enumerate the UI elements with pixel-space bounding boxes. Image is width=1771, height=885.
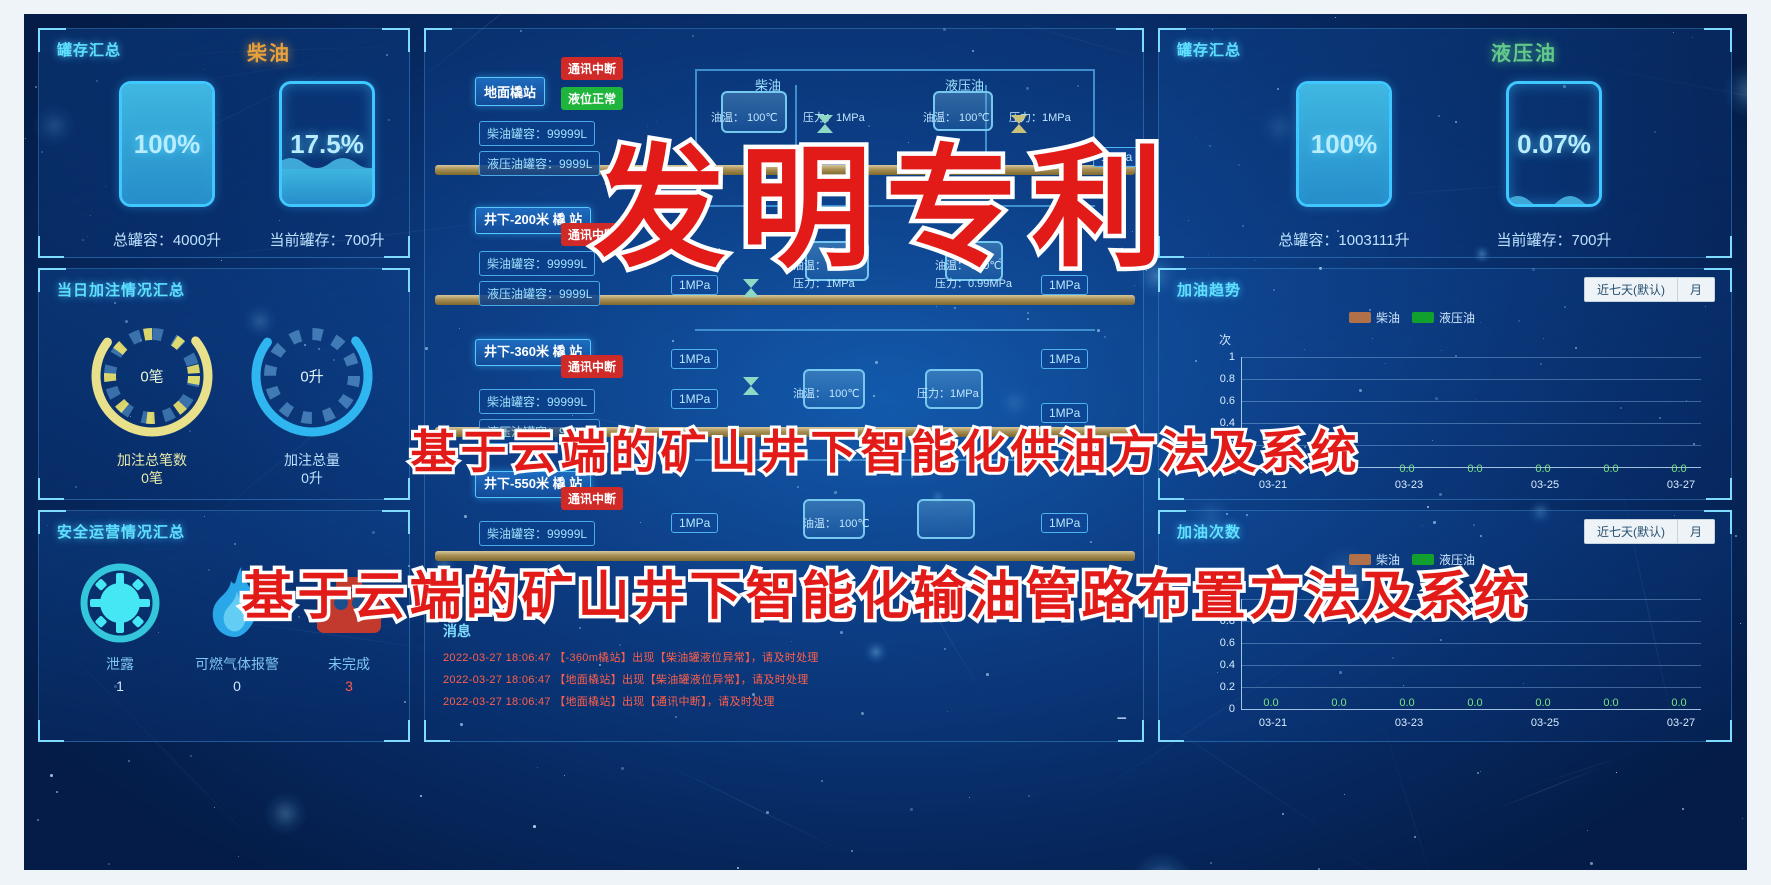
- screenshot-root: 罐存汇总 柴油 100% 总罐容：4000升 17.5% 当前罐存：700升: [0, 0, 1771, 885]
- panel-subtitle-hydraulic: 液压油: [1491, 37, 1557, 66]
- pressure-tag: 1MPa: [671, 513, 718, 533]
- tank-percent-label: 100%: [122, 84, 212, 204]
- gauge-caption-count: 加注总笔数 0笔: [67, 452, 237, 487]
- chart-point-label: 0.0: [1671, 463, 1686, 475]
- range-selector-count[interactable]: 近七天(默认) 月: [1584, 519, 1715, 544]
- safety-value-unfinished: 3: [299, 678, 399, 694]
- legend-label-hydraulic: 液压油: [1439, 309, 1475, 326]
- chart-gridline: [1241, 643, 1701, 644]
- panel-subtitle-diesel: 柴油: [247, 37, 291, 66]
- pressure-tag: 1MPa: [671, 389, 718, 409]
- watermark-patent-line1: 基于云端的矿山井下智能化供油方法及系统: [411, 416, 1361, 482]
- chart-point-label: 0.0: [1671, 697, 1686, 709]
- status-chip-comm-interrupt: 通讯中断: [561, 487, 623, 510]
- safety-label-leak: 泄露: [65, 654, 175, 674]
- tank-current-diesel: 17.5% 当前罐存：700升: [247, 81, 407, 250]
- legend-item-diesel[interactable]: 柴油: [1349, 309, 1400, 326]
- gauge-caption-count-line1: 加注总笔数: [67, 452, 237, 470]
- legend-label-diesel: 柴油: [1376, 309, 1400, 326]
- dashboard-board: 罐存汇总 柴油 100% 总罐容：4000升 17.5% 当前罐存：700升: [24, 14, 1747, 870]
- message-box: 消息 2022-03-27 18:06:47 【-360m橇站】出现【柴油罐液位…: [443, 621, 803, 715]
- chart-point-label: 0.0: [1603, 697, 1618, 709]
- range-selector-trend[interactable]: 近七天(默认) 月: [1584, 277, 1715, 302]
- zoom-out-button[interactable]: −: [1116, 709, 1127, 727]
- info-tag-diesel-capacity: 柴油罐容：99999L: [479, 389, 595, 414]
- chart-ytick: 0.6: [1209, 637, 1235, 649]
- chart-point-label: 0.0: [1467, 463, 1482, 475]
- gauge-caption-count-line2: 0笔: [67, 470, 237, 488]
- pipe-line: [695, 329, 1095, 331]
- message-line: 2022-03-27 18:06:47 【地面橇站】出现【柴油罐液位异常】，请及…: [443, 671, 803, 687]
- gauge-value-count: 0笔: [67, 366, 237, 387]
- info-tag-hydraulic-capacity: 液压油罐容：9999L: [479, 151, 600, 176]
- chart-gridline: [1241, 379, 1701, 380]
- chart-ytick: 0.6: [1209, 395, 1235, 407]
- safety-item-leak[interactable]: 泄露 1: [65, 557, 175, 694]
- chart-gridline: [1241, 401, 1701, 402]
- tank-total-diesel: 100% 总罐容：4000升: [87, 81, 247, 250]
- tank-total-hydraulic: 100% 总罐容：1003111升: [1239, 81, 1449, 250]
- tank-gauge-total-diesel: 100%: [119, 81, 215, 207]
- chart-point-label: 0.0: [1535, 463, 1550, 475]
- tank-icon-hydraulic-4: [917, 499, 975, 539]
- station-tag-ground[interactable]: 地面橇站: [475, 77, 545, 106]
- panel-hydraulic-inventory: 罐存汇总 液压油 100% 总罐容：1003111升 0.07% 当前罐存：70…: [1158, 28, 1732, 258]
- info-tag-diesel-capacity: 柴油罐容：99999L: [479, 521, 595, 546]
- tank-caption-current-diesel: 当前罐存：700升: [247, 229, 407, 250]
- panel-daily-refuel: 当日加注情况汇总 0笔 加注总笔数 0笔 0升: [38, 268, 410, 500]
- panel-title-safety: 安全运营情况汇总: [57, 521, 185, 542]
- status-chip-comm-interrupt: 通讯中断: [561, 57, 623, 80]
- chart-point-label: 0.0: [1535, 697, 1550, 709]
- chart-xtick: 03-27: [1667, 479, 1695, 491]
- meter-oil-temp: 压力：1MPa: [917, 385, 979, 401]
- tank-percent-label: 0.07%: [1509, 84, 1599, 204]
- meter-oil-temp: 油温： 100℃: [803, 515, 870, 531]
- info-tag-diesel-capacity: 柴油罐容：99999L: [479, 251, 595, 276]
- chart-point-label: 0.0: [1467, 697, 1482, 709]
- tank-gauge-current-hydraulic: 0.07%: [1506, 81, 1602, 207]
- tank-caption-current-hydraulic: 当前罐存：700升: [1449, 229, 1659, 250]
- info-tag-hydraulic-capacity: 液压油罐容：9999L: [479, 281, 600, 306]
- panel-title-diesel-inventory: 罐存汇总: [57, 39, 121, 60]
- safety-label-unfinished: 未完成: [299, 654, 399, 674]
- tank-caption-total-hydraulic: 总罐容：1003111升: [1239, 229, 1449, 250]
- legend-swatch-diesel: [1349, 312, 1371, 323]
- gauge-caption-volume-line2: 0升: [227, 470, 397, 488]
- chart-point-label: 0.0: [1399, 463, 1414, 475]
- range-option-seven-days[interactable]: 近七天(默认): [1585, 278, 1677, 301]
- chart-xtick: 03-25: [1531, 479, 1559, 491]
- pressure-tag: 1MPa: [671, 349, 718, 369]
- range-option-seven-days[interactable]: 近七天(默认): [1585, 520, 1677, 543]
- range-option-month[interactable]: 月: [1677, 520, 1714, 543]
- tank-gauge-current-diesel: 17.5%: [279, 81, 375, 207]
- pipe-line: [695, 69, 1095, 71]
- chart-xtick: 03-25: [1531, 717, 1559, 729]
- tank-current-hydraulic: 0.07% 当前罐存：700升: [1449, 81, 1659, 250]
- safety-value-leak: 1: [65, 678, 175, 694]
- chart-ytick: 0: [1209, 703, 1235, 715]
- pressure-tag: 1MPa: [1041, 349, 1088, 369]
- safety-value-gas-alarm: 0: [177, 678, 297, 694]
- chart-point-label: 0.0: [1331, 697, 1346, 709]
- chart-title-refuel-count: 加油次数: [1177, 521, 1241, 542]
- tank-gauge-total-hydraulic: 100%: [1296, 81, 1392, 207]
- tank-percent-label: 17.5%: [282, 84, 372, 204]
- range-option-month[interactable]: 月: [1677, 278, 1714, 301]
- chart-xaxis: [1241, 709, 1701, 710]
- gauge-caption-volume-line1: 加注总量: [227, 452, 397, 470]
- pressure-tag: 1MPa: [1041, 513, 1088, 533]
- chart-gridline: [1241, 687, 1701, 688]
- legend-swatch-hydraulic: [1412, 312, 1434, 323]
- chart-gridline: [1241, 357, 1701, 358]
- chart-ylabel-trend: 次: [1219, 331, 1231, 348]
- chart-xtick: 03-23: [1395, 479, 1423, 491]
- chart-point-label: 0.0: [1399, 697, 1414, 709]
- valve-icon: [741, 375, 761, 397]
- status-chip-comm-interrupt: 通讯中断: [561, 355, 623, 378]
- chart-xtick: 03-21: [1259, 717, 1287, 729]
- gauge-refuel-count: 0笔 加注总笔数 0笔: [67, 311, 237, 487]
- chart-ytick: 0.4: [1209, 659, 1235, 671]
- watermark-patent-title: 发明专利: [594, 102, 1178, 293]
- tank-caption-total-diesel: 总罐容：4000升: [87, 229, 247, 250]
- chart-point-label: 0.0: [1603, 463, 1618, 475]
- meter-oil-temp: 油温： 100℃: [793, 385, 860, 401]
- gauge-value-volume: 0升: [227, 366, 397, 387]
- panel-title-daily-refuel: 当日加注情况汇总: [57, 279, 185, 300]
- chart-legend-trend: 柴油 液压油: [1349, 309, 1475, 326]
- chart-point-label: 0.0: [1263, 697, 1278, 709]
- chart-title-refuel-trend: 加油趋势: [1177, 279, 1241, 300]
- chart-xtick: 03-23: [1395, 717, 1423, 729]
- chart-xtick: 03-27: [1667, 717, 1695, 729]
- gauge-refuel-volume: 0升 加注总量 0升: [227, 311, 397, 487]
- panel-diesel-inventory: 罐存汇总 柴油 100% 总罐容：4000升 17.5% 当前罐存：700升: [38, 28, 410, 258]
- chart-ytick: 1: [1209, 351, 1235, 363]
- safety-label-gas-alarm: 可燃气体报警: [177, 654, 297, 674]
- message-line: 2022-03-27 18:06:47 【地面橇站】出现【通讯中断】，请及时处理: [443, 693, 803, 709]
- chart-ytick: 0.8: [1209, 373, 1235, 385]
- chart-gridline: [1241, 665, 1701, 666]
- panel-title-hydraulic-inventory: 罐存汇总: [1177, 39, 1241, 60]
- legend-item-hydraulic[interactable]: 液压油: [1412, 309, 1475, 326]
- gear-leak-icon: [74, 557, 166, 649]
- watermark-patent-line2: 基于云端的矿山井下智能化输油管路布置方法及系统: [241, 554, 1529, 629]
- message-line: 2022-03-27 18:06:47 【-360m橇站】出现【柴油罐液位异常】…: [443, 649, 803, 665]
- chart-ytick: 0.2: [1209, 681, 1235, 693]
- gauge-caption-volume: 加注总量 0升: [227, 452, 397, 487]
- info-tag-diesel-capacity: 柴油罐容：99999L: [479, 121, 595, 146]
- tank-percent-label: 100%: [1299, 84, 1389, 204]
